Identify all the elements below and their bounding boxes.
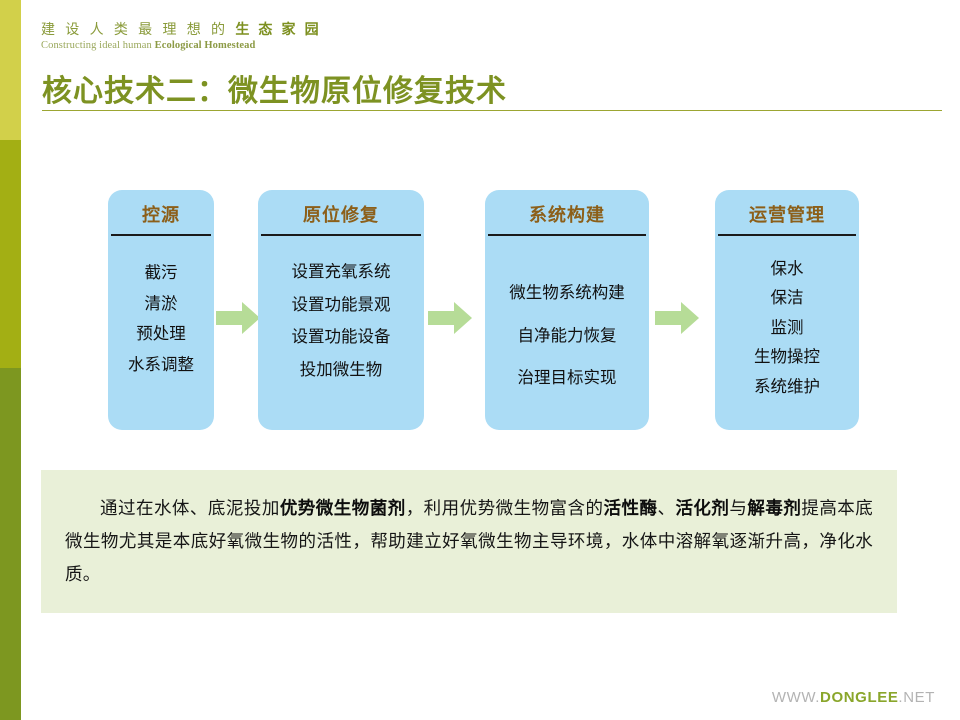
rail-band-top [0, 0, 21, 140]
flow-node-item: 自净能力恢复 [485, 315, 649, 358]
process-flow-diagram: 控源 截污 清淤 预处理 水系调整 原位修复 设置充氧系统 设置功能景观 设置功… [0, 190, 960, 430]
flow-node-item: 水系调整 [108, 350, 214, 381]
flow-node-item: 监测 [715, 313, 859, 343]
flow-node-item: 系统维护 [715, 372, 859, 402]
flow-node-item: 设置功能景观 [258, 289, 424, 322]
summary-text-run: 通过在水体、底泥投加 [100, 498, 280, 518]
summary-emphasis: 活性酶 [604, 498, 658, 518]
summary-paragraph: 通过在水体、底泥投加优势微生物菌剂，利用优势微生物富含的活性酶、活化剂与解毒剂提… [65, 492, 873, 591]
flow-node-item: 截污 [108, 258, 214, 289]
title-underline-rule [42, 110, 942, 111]
page-title: 核心技术二：微生物原位修复技术 [42, 66, 507, 110]
flow-node-header: 原位修复 [258, 190, 424, 227]
flow-node-items: 截污 清淤 预处理 水系调整 [108, 236, 214, 380]
arrow-right-icon-1 [216, 301, 260, 335]
slide-root: 建 设 人 类 最 理 想 的 生 态 家 园 Constructing ide… [0, 0, 960, 720]
summary-emphasis: 优势微生物菌剂 [280, 498, 406, 518]
flow-node-system-construction[interactable]: 系统构建 微生物系统构建 自净能力恢复 治理目标实现 [485, 190, 649, 430]
flow-node-header: 运营管理 [715, 190, 859, 227]
flow-node-items: 设置充氧系统 设置功能景观 设置功能设备 投加微生物 [258, 236, 424, 386]
flow-node-item: 预处理 [108, 319, 214, 350]
footer-suffix: .NET [898, 689, 935, 706]
arrow-right-icon-3 [655, 301, 699, 335]
flow-node-in-situ-restoration[interactable]: 原位修复 设置充氧系统 设置功能景观 设置功能设备 投加微生物 [258, 190, 424, 430]
summary-emphasis: 解毒剂 [747, 498, 801, 518]
summary-text-run: 与 [729, 498, 747, 518]
flow-node-item: 设置功能设备 [258, 321, 424, 354]
flow-node-item: 保洁 [715, 284, 859, 314]
flow-node-item: 设置充氧系统 [258, 256, 424, 289]
flow-node-item: 清淤 [108, 289, 214, 320]
flow-node-items: 微生物系统构建 自净能力恢复 治理目标实现 [485, 236, 649, 400]
flow-node-item: 投加微生物 [258, 354, 424, 387]
logo-chinese-plain: 建 设 人 类 最 理 想 的 [41, 21, 235, 37]
flow-node-item: 保水 [715, 254, 859, 284]
footer-brand: DONGLEE [820, 689, 898, 706]
flow-node-item: 生物操控 [715, 343, 859, 373]
flow-node-item: 治理目标实现 [485, 357, 649, 400]
flow-node-header: 系统构建 [485, 190, 649, 227]
flow-node-control-source[interactable]: 控源 截污 清淤 预处理 水系调整 [108, 190, 214, 430]
summary-text-run: 、 [657, 498, 675, 518]
logo-chinese-tagline: 建 设 人 类 最 理 想 的 生 态 家 园 [41, 22, 321, 36]
summary-emphasis: 活化剂 [675, 498, 729, 518]
footer-website: WWW.DONGLEE.NET [772, 689, 935, 706]
logo-english-tagline: Constructing ideal human Ecological Home… [41, 41, 321, 52]
flow-node-items: 保水 保洁 监测 生物操控 系统维护 [715, 236, 859, 402]
logo-chinese-bold: 生 态 家 园 [235, 21, 321, 37]
summary-panel: 通过在水体、底泥投加优势微生物菌剂，利用优势微生物富含的活性酶、活化剂与解毒剂提… [41, 470, 897, 613]
flow-node-header: 控源 [108, 190, 214, 227]
footer-prefix: WWW. [772, 689, 820, 706]
flow-node-item: 微生物系统构建 [485, 272, 649, 315]
summary-text-run: ，利用优势微生物富含的 [406, 498, 604, 518]
arrow-right-icon-2 [428, 301, 472, 335]
flow-node-operation-management[interactable]: 运营管理 保水 保洁 监测 生物操控 系统维护 [715, 190, 859, 430]
brand-logo: 建 设 人 类 最 理 想 的 生 态 家 园 Constructing ide… [41, 22, 321, 52]
logo-english-plain: Constructing ideal human [41, 40, 155, 51]
logo-english-bold: Ecological Homestead [155, 40, 256, 51]
